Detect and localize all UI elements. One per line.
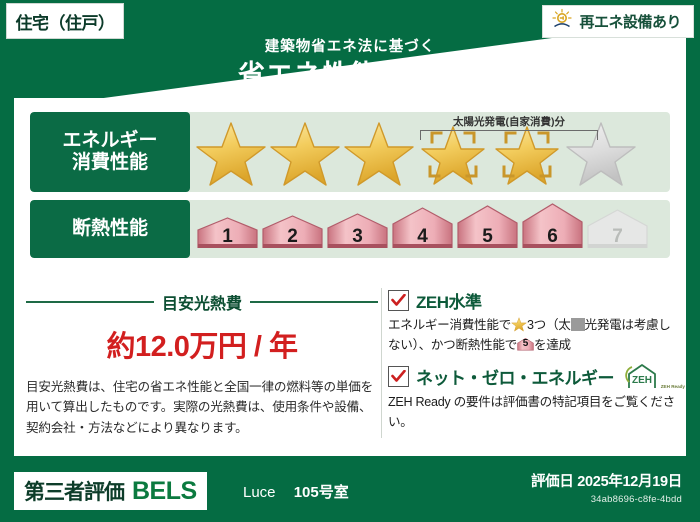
energy-performance-label: 住宅（住戸） 再エネ設備あり 建築物省エネ法に基づく 省エネ性能ラベル (0, 0, 700, 522)
bels-certification-box: 第三者評価 BELS (14, 472, 207, 510)
svg-text:ZEH: ZEH (632, 375, 652, 386)
insulation-step-number: 3 (326, 226, 389, 248)
evaluation-date: 評価日 2025年12月19日 (531, 470, 682, 491)
insulation-scale: 1 2 3 (196, 202, 649, 258)
building-name: Luce (243, 484, 276, 501)
label-subtitle: 建築物省エネ法に基づく (0, 40, 700, 55)
third-party-eval-label: 第三者評価 (24, 476, 124, 506)
zeh-ready-logo: ZEH ZEH Ready (625, 363, 671, 390)
insulation-step: 5 (456, 204, 519, 253)
star-filled (342, 117, 416, 187)
energy-row-body: 太陽光発電(自家消費)分 (190, 112, 670, 192)
utility-cost-value: 約12.0万円 / 年 (26, 323, 378, 365)
title-block: 建築物省エネ法に基づく 省エネ性能ラベル (0, 40, 700, 89)
insulation-step: 6 (521, 202, 584, 253)
net-zero-heading: ネット・ゼロ・エネルギー ZEH ZEH Ready (388, 363, 678, 390)
star-filled (194, 117, 268, 187)
bels-logo-text: BELS (132, 477, 197, 506)
insulation-step-number: 7 (586, 226, 649, 248)
zeh-ready-sublabel: ZEH Ready (661, 384, 685, 389)
energy-performance-row: エネルギー 消費性能 太陽光発電(自家消費)分 (30, 112, 670, 192)
insulation-step-number: 6 (521, 226, 584, 248)
insulation-step: 2 (261, 214, 324, 253)
redacted-character (571, 318, 585, 331)
category-tag: 住宅（住戸） (6, 3, 124, 39)
insulation-step: 4 (391, 206, 454, 253)
insulation-step-inactive: 7 (586, 208, 649, 253)
solar-bracket-group: 太陽光発電(自家消費)分 (420, 114, 598, 140)
zeh-desc-part-b: 3つ（太 (527, 318, 571, 332)
insulation-performance-row: 断熱性能 1 (30, 200, 670, 258)
insulation-row-label: 断熱性能 (30, 200, 190, 258)
heading-rule-left (26, 301, 154, 303)
insulation-step: 1 (196, 216, 259, 253)
insulation-level-badge-icon: 5 (517, 336, 534, 352)
energy-label-line2: 消費性能 (72, 152, 148, 174)
insulation-step-number: 4 (391, 226, 454, 248)
section-divider (381, 288, 382, 438)
utility-cost-note: 目安光熱費は、住宅の省エネ性能と全国一律の燃料等の単価を用いて算出したものです。… (26, 377, 378, 438)
evaluation-info: 評価日 2025年12月19日 34ab8696-c8fe-4bdd (531, 470, 682, 505)
insulation-step: 3 (326, 212, 389, 253)
star-filled (268, 117, 342, 187)
zeh-standard-title: ZEH水準 (416, 288, 482, 313)
solar-caption: 太陽光発電(自家消費)分 (420, 114, 598, 129)
performance-section: エネルギー 消費性能 太陽光発電(自家消費)分 (30, 112, 670, 266)
insulation-step-number: 2 (261, 226, 324, 248)
net-zero-description: ZEH Ready の要件は評価書の特記項目をご覧ください。 (388, 393, 678, 432)
star-icon (511, 316, 527, 332)
footer: 第三者評価 BELS Luce 105号室 評価日 2025年12月19日 34… (0, 460, 700, 522)
checkbox-checked-icon (388, 290, 409, 311)
utility-cost-heading: 目安光熱費 (26, 290, 378, 314)
label-title: 省エネ性能ラベル (0, 62, 700, 89)
checkbox-checked-icon (388, 366, 409, 387)
room-number: 105号室 (294, 484, 349, 501)
renewable-badge-label: 再エネ設備あり (579, 11, 681, 32)
renewable-energy-badge: 再エネ設備あり (542, 5, 694, 38)
energy-label-line1: エネルギー (62, 130, 157, 152)
utility-cost-title: 目安光熱費 (162, 290, 242, 314)
insulation-step-number: 1 (196, 226, 259, 248)
zeh-desc-part-a: エネルギー消費性能で (388, 318, 511, 332)
zeh-standard-description: エネルギー消費性能で3つ（太光発電は考慮しない）、かつ断熱性能で5を達成 (388, 316, 678, 355)
net-zero-title: ネット・ゼロ・エネルギー (416, 364, 614, 389)
insulation-row-body: 1 2 3 (190, 200, 670, 258)
net-zero-energy-item: ネット・ゼロ・エネルギー ZEH ZEH Ready ZEH Ready の要件… (388, 363, 678, 432)
zeh-desc-part-d: を達成 (534, 338, 571, 352)
solar-bracket (420, 130, 598, 140)
evaluation-id: 34ab8696-c8fe-4bdd (531, 494, 682, 505)
sun-icon (551, 8, 573, 35)
zeh-standard-item: ZEH水準 エネルギー消費性能で3つ（太光発電は考慮しない）、かつ断熱性能で5を… (388, 288, 678, 355)
insulation-step-number: 5 (456, 226, 519, 248)
utility-cost-block: 目安光熱費 約12.0万円 / 年 目安光熱費は、住宅の省エネ性能と全国一律の燃… (26, 290, 378, 438)
energy-row-label: エネルギー 消費性能 (30, 112, 190, 192)
insulation-level-badge-number: 5 (517, 336, 534, 352)
building-info: Luce 105号室 (243, 481, 349, 502)
zeh-block: ZEH水準 エネルギー消費性能で3つ（太光発電は考慮しない）、かつ断熱性能で5を… (388, 288, 678, 440)
heading-rule-right (250, 301, 378, 303)
zeh-standard-heading: ZEH水準 (388, 288, 678, 313)
